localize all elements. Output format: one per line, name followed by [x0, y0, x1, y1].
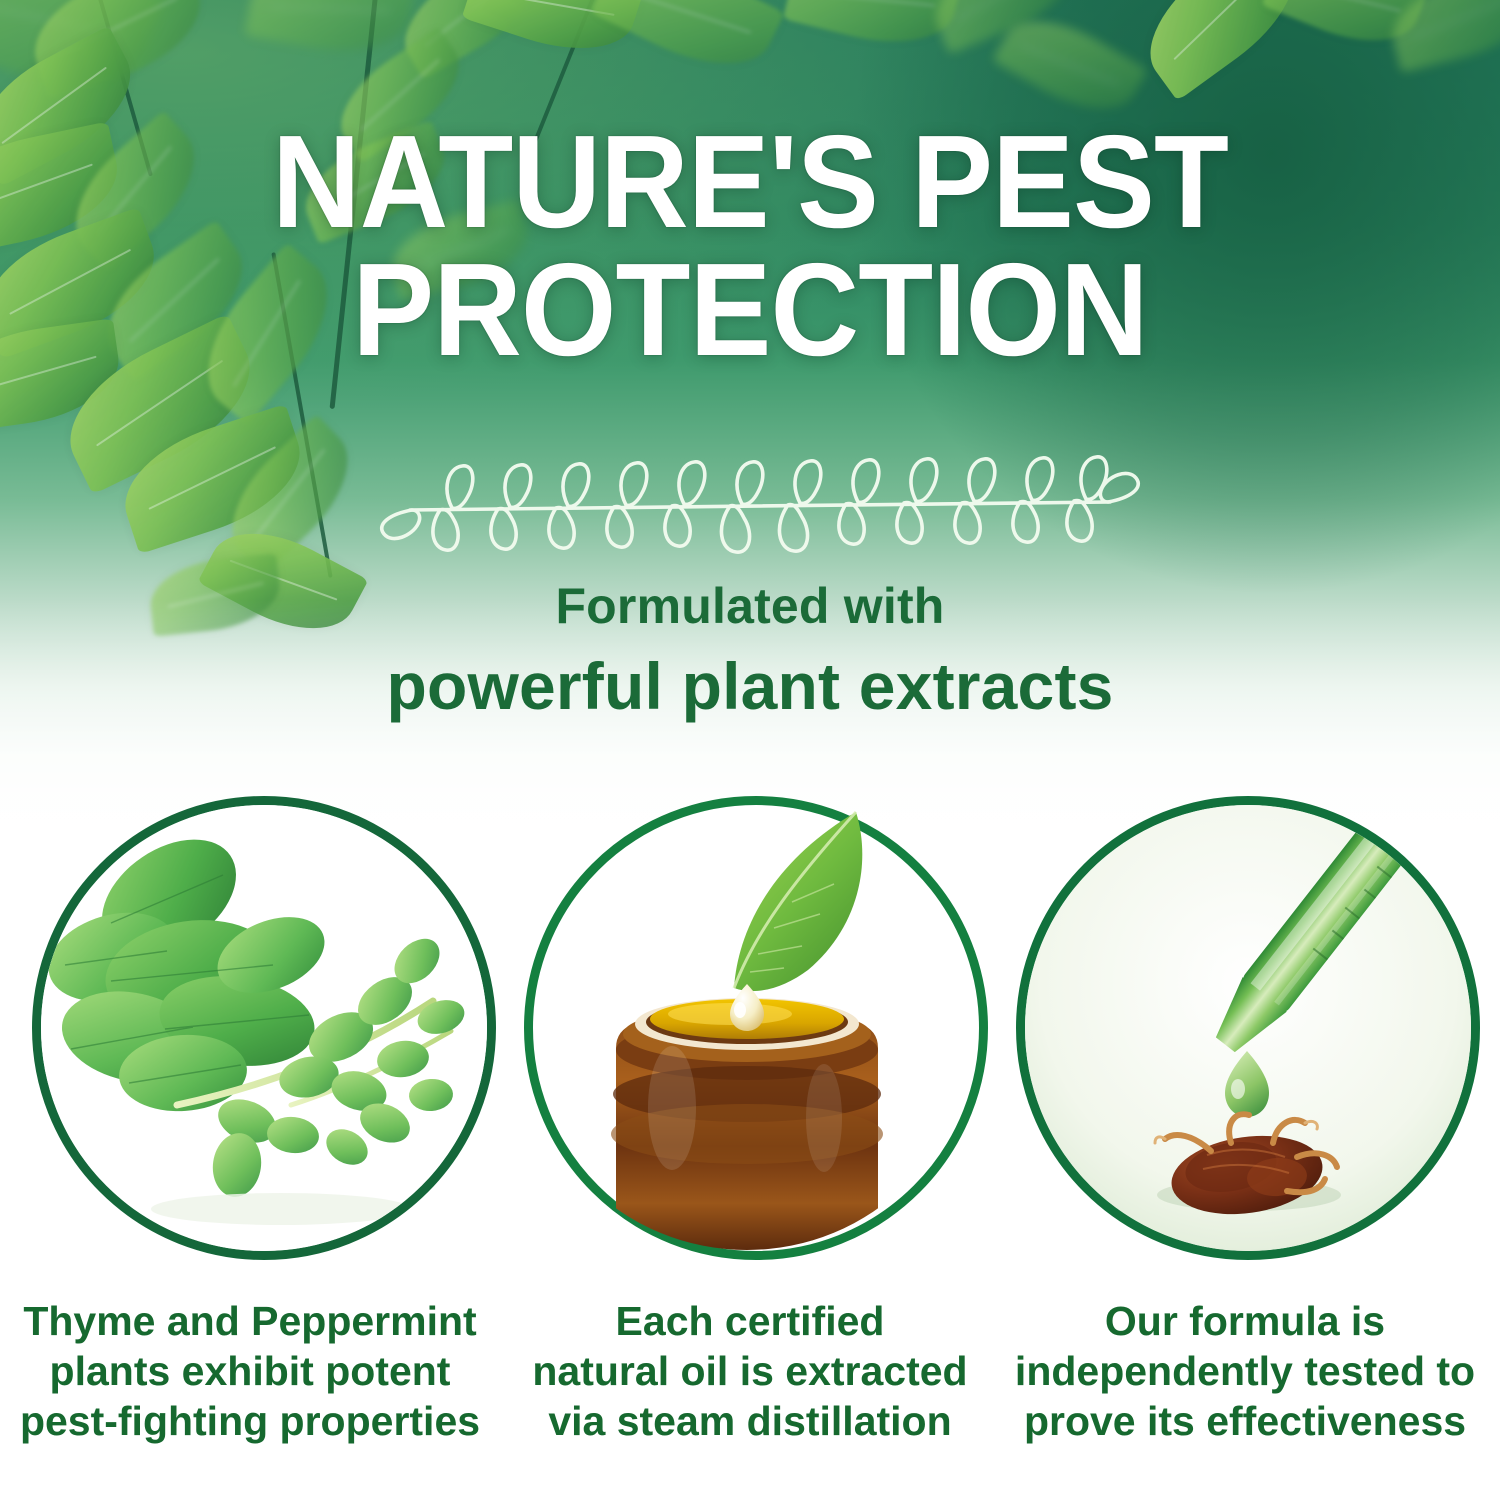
subtitle-line-1: Formulated with — [0, 577, 1500, 635]
caption-line: Each certified — [510, 1296, 990, 1346]
headline-line-2: PROTECTION — [53, 246, 1448, 374]
caption-line: pest-fighting properties — [10, 1396, 490, 1446]
feature-item-oil-bottle[interactable] — [512, 788, 982, 1258]
laurel-vine-divider-icon — [370, 452, 1150, 556]
feature-captions: Thyme and Peppermint plants exhibit pote… — [0, 1296, 1500, 1496]
feature-item-tested[interactable] — [1004, 788, 1474, 1258]
caption-line: Thyme and Peppermint — [10, 1296, 490, 1346]
caption-herbs: Thyme and Peppermint plants exhibit pote… — [10, 1296, 490, 1446]
subtitle-line-2: powerful plant extracts — [0, 648, 1500, 724]
caption-line: via steam distillation — [510, 1396, 990, 1446]
feature-image-pipette-bug — [1016, 796, 1480, 1260]
headline-line-1: NATURE'S PEST — [53, 118, 1448, 246]
caption-line: plants exhibit potent — [10, 1346, 490, 1396]
feature-item-herbs[interactable] — [20, 788, 490, 1258]
caption-line: Our formula is — [1005, 1296, 1485, 1346]
leaf-droplet-icon — [512, 788, 982, 1258]
caption-line: prove its effectiveness — [1005, 1396, 1485, 1446]
caption-line: independently tested to — [1005, 1346, 1485, 1396]
caption-line: natural oil is extracted — [510, 1346, 990, 1396]
caption-oil-bottle: Each certified natural oil is extracted … — [510, 1296, 990, 1446]
feature-image-herbs — [32, 796, 496, 1260]
caption-tested: Our formula is independently tested to p… — [1005, 1296, 1485, 1446]
feature-circles — [0, 788, 1500, 1278]
page-title: NATURE'S PEST PROTECTION — [53, 118, 1448, 374]
product-infographic: NATURE'S PEST PROTECTION — [0, 0, 1500, 1500]
